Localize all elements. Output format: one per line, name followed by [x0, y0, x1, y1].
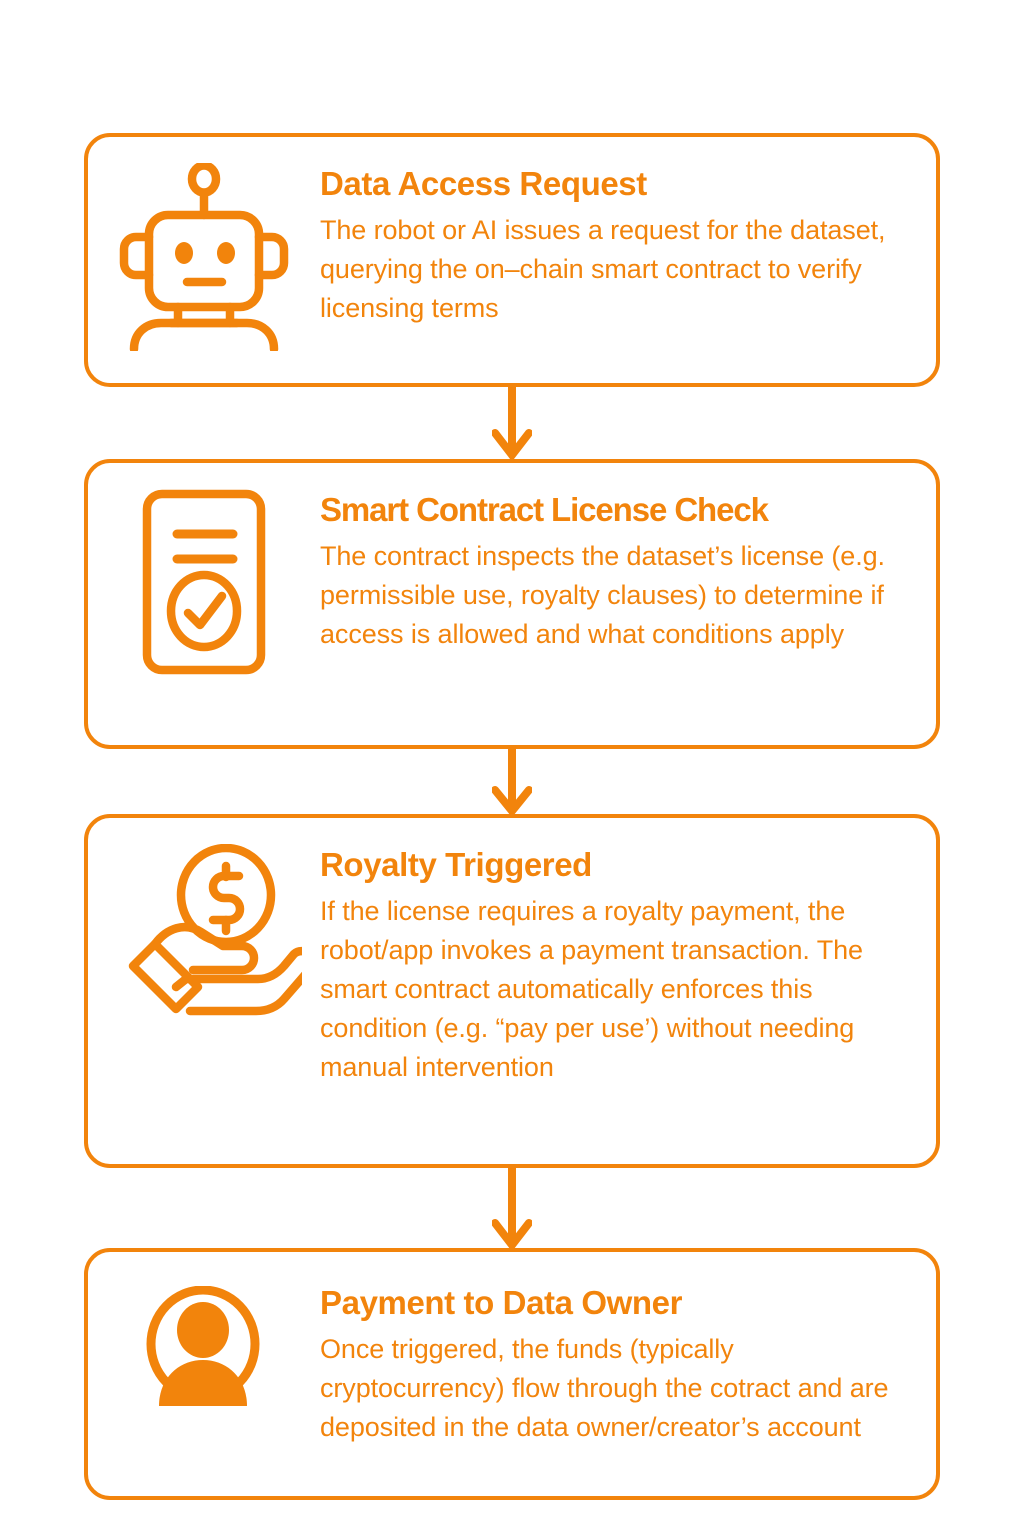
flow-step-text-3: Royalty Triggered If the license require… [320, 818, 936, 1087]
flow-step-text-4: Payment to Data Owner Once triggered, th… [320, 1252, 936, 1447]
step-body: Once triggered, the funds (typically cry… [320, 1330, 898, 1447]
step-title: Royalty Triggered [320, 846, 936, 884]
flow-step-card-3[interactable]: Royalty Triggered If the license require… [84, 814, 940, 1168]
document-check-icon [88, 463, 320, 675]
hand-holding-dollar-icon [88, 818, 320, 1020]
step-body: If the license requires a royalty paymen… [320, 892, 906, 1087]
user-avatar-icon [88, 1252, 320, 1410]
step-body: The robot or AI issues a request for the… [320, 211, 900, 328]
flow-diagram: Data Access Request The robot or AI issu… [0, 0, 1024, 1536]
flow-step-card-2[interactable]: Smart Contract License Check The contrac… [84, 459, 940, 749]
connector-arrow-1 [492, 387, 532, 459]
step-title: Smart Contract License Check [320, 491, 936, 529]
connector-arrow-2 [492, 749, 532, 814]
flow-step-card-4[interactable]: Payment to Data Owner Once triggered, th… [84, 1248, 940, 1500]
step-title: Data Access Request [320, 165, 936, 203]
robot-icon [88, 137, 320, 351]
step-title: Payment to Data Owner [320, 1284, 936, 1322]
step-body: The contract inspects the dataset’s lice… [320, 537, 900, 654]
flow-step-text-2: Smart Contract License Check The contrac… [320, 463, 936, 654]
flow-step-card-1[interactable]: Data Access Request The robot or AI issu… [84, 133, 940, 387]
flow-step-text-1: Data Access Request The robot or AI issu… [320, 137, 936, 328]
connector-arrow-3 [492, 1168, 532, 1248]
